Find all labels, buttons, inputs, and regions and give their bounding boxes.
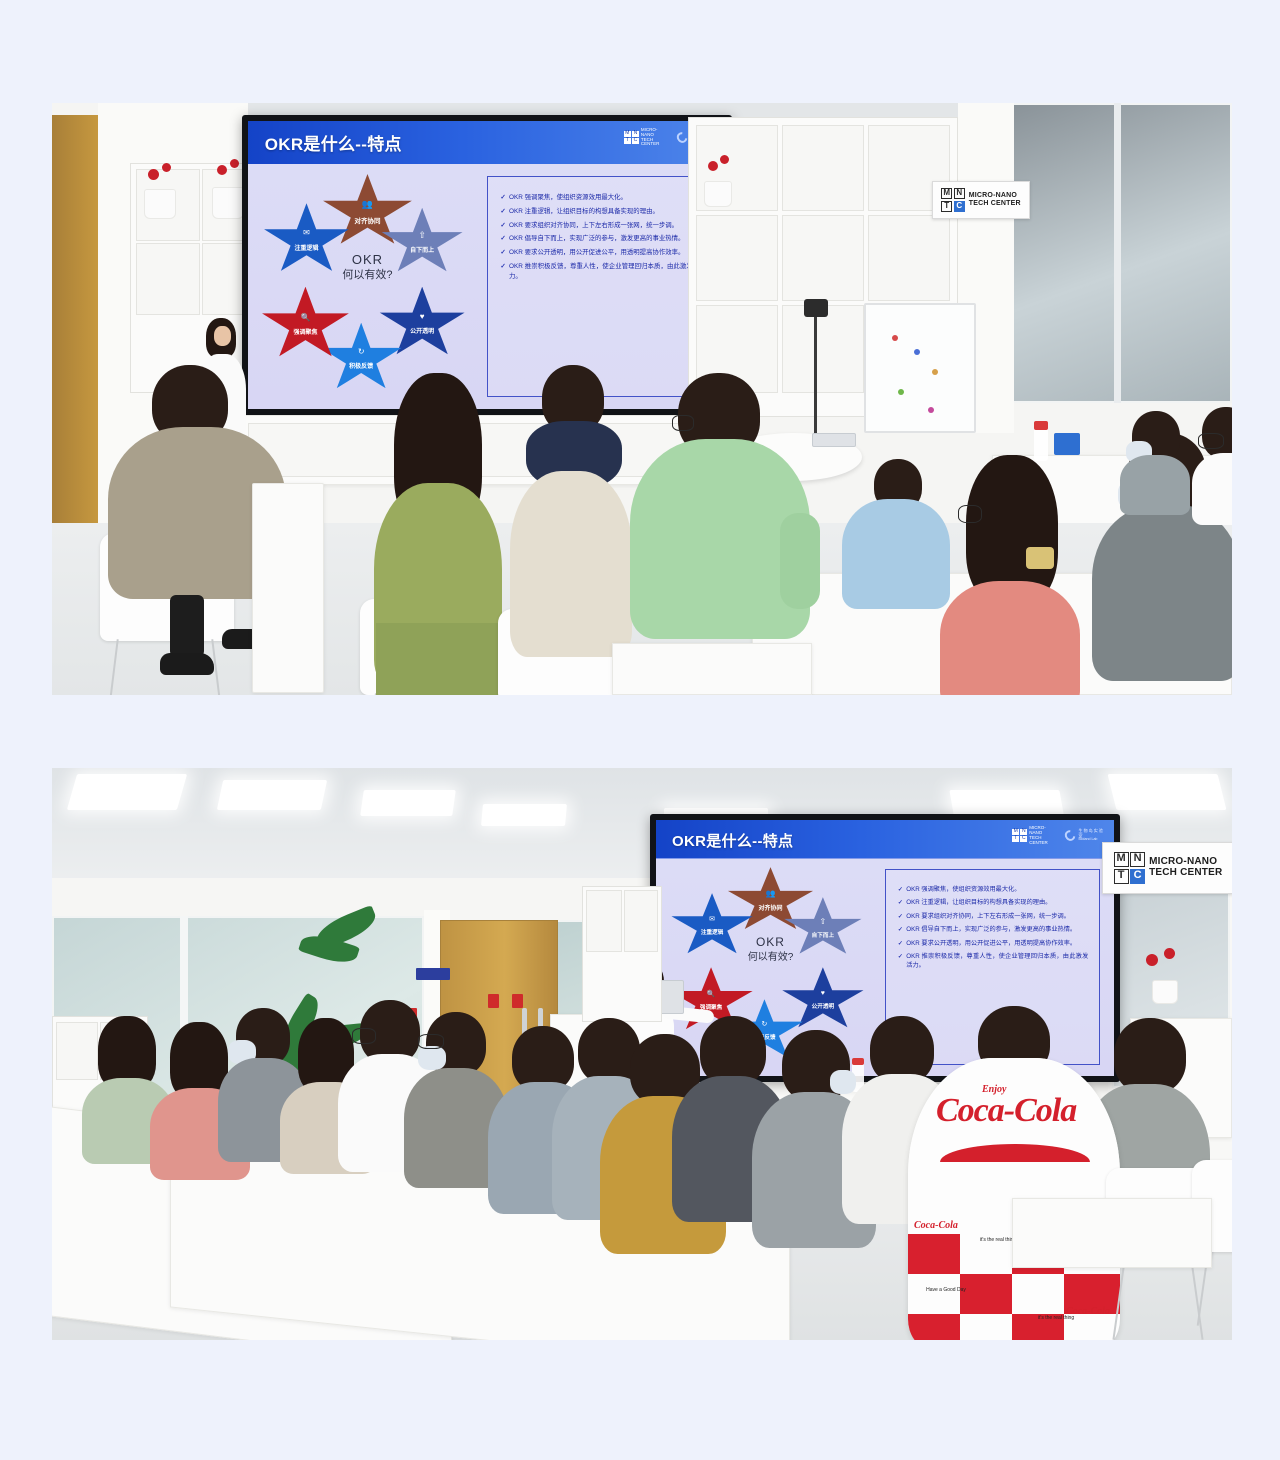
glasses [418,1034,444,1049]
shelf-cell [782,215,864,301]
audience-member [370,373,505,695]
magnet-dot [932,369,938,375]
mntc-letter-t: T [624,138,631,144]
bench-right [1012,1198,1212,1268]
center-line-1: OKR [317,251,418,268]
wall-sign-letter-t: T [1114,869,1129,884]
presentation-screen: OKR是什么--特点 M N T C MICRO-NANO TECH [242,115,732,415]
audience-member [940,455,1080,695]
red-flower [720,155,729,164]
mntc-logo: M N T C MICRO-NANO TECH CENTER [1012,826,1057,845]
bullet-item: OKR 推崇积极反馈，尊重人性，使企业管理回归本质，由此激发活力。 [500,262,699,281]
swirl-icon [1063,828,1078,843]
tripod-head [804,299,828,317]
jacket-check-square [908,1234,960,1274]
ceiling-light [481,804,567,826]
wall-sign-letter-m: M [1114,852,1129,867]
shelf-cell [624,890,658,952]
heart-icon: ♥ [420,313,425,321]
audience-member-cocacola: Enjoy Coca-Cola Coca-Cola Coca-Cola it's… [904,1006,1124,1340]
blue-cup [1054,433,1080,455]
red-flower [148,169,159,180]
mntc-logo-line2: TECH CENTER [1029,836,1057,845]
people-icon: 👥 [766,890,776,898]
red-flower [708,161,718,171]
plant-pot [1152,980,1178,1004]
photo-seminar-close-view: OKR是什么--特点 M N T C MICRO-NANO TECH [52,103,1232,695]
scene-wide-view: OKR是什么--特点 M N T C MICRO-NANO TECH [52,768,1232,1340]
torso [842,499,950,609]
mntc-logo-letters: M N T C [1012,829,1027,842]
audience-member [842,459,950,609]
mntc-logo-text: MICRO-NANO TECH CENTER [1029,826,1057,845]
glasses [958,505,982,523]
bullet-item: OKR 要求公开透明，用公开促进公平，用透明提高协作效率。 [898,939,1088,948]
fire-alarm-box [512,994,523,1008]
shelf-cell [782,125,864,211]
bullet-item: OKR 倡导自下而上，实现广泛的参与，激发更高的事业热情。 [500,234,699,244]
red-flower [1146,954,1158,966]
up-arrow-icon: ⇧ [418,231,426,240]
torso [510,471,632,657]
wall-sign-mntc: M N T C MICRO-NANO TECH CENTER [1102,842,1232,894]
red-flower [230,159,239,168]
slide-title: OKR是什么--特点 [265,130,402,155]
window-mullion [1114,103,1121,403]
bullet-item: OKR 要求公开透明，用公开促进公平，用透明提高协作效率。 [500,248,699,258]
wall-sign-letter-m: M [941,188,952,199]
wall-sign-letter-t: T [941,201,952,212]
bullet-item: OKR 强调聚焦，使组织资源效用最大化。 [898,885,1088,894]
jacket-tagline: Have a Good Day [920,1288,972,1293]
wall-sign-mntc: M N T C MICRO-NANO TECH CENTER [932,181,1030,219]
bullet-item: OKR 倡导自下而上，实现广泛的参与，激发更高的事业热情。 [898,925,1088,934]
up-arrow-icon: ⇧ [820,918,827,926]
table-front-center [612,643,812,695]
magnet-dot [914,349,920,355]
slide-logo-group: M N T C MICRO-NANO TECH CENTER [1012,826,1105,845]
red-flower [217,165,227,175]
coca-cola-small-wordmark: Coca-Cola [914,1220,958,1231]
fire-alarm-box [488,994,499,1008]
jacket-upper-panel [908,1058,1120,1218]
star-label: 注重逻辑 [294,243,318,252]
jacket-check-square [960,1274,1012,1314]
leg [170,595,204,657]
star-label: 积极反馈 [349,361,373,370]
wall-sign-letters: M N T C [941,188,965,212]
mntc-letter-c: C [1020,836,1027,842]
audience-member [504,365,634,685]
shelf-cell [136,243,200,315]
star-label: 强调聚焦 [293,327,317,336]
mntc-letter-t: T [1012,836,1019,842]
photo-seminar-wide-view: OKR是什么--特点 M N T C MICRO-NANO TECH [52,768,1232,1340]
window-right [1012,103,1232,403]
star-label: 对齐协同 [758,903,782,912]
plant-pot [212,187,244,219]
magnet-dot [928,407,934,413]
partner-logo-text: 生 物 岛 实 验 室 Bioland Lab [1078,829,1104,842]
magnet-dot [892,335,898,341]
bullet-item: OKR 要求组织对齐协同，上下左右形成一张网，统一步调。 [898,912,1088,921]
mntc-logo-letters: M N T C [624,131,639,144]
plant-pot [144,189,176,219]
red-flower [162,163,171,172]
wall-sign-letter-n: N [954,188,965,199]
coca-cola-wordmark: Coca-Cola [936,1092,1076,1130]
hair-clip [1026,547,1054,569]
tripod-stand [814,313,817,443]
ceiling-light [217,780,327,810]
people-icon: 👥 [362,200,373,209]
mail-icon: ✉ [303,229,310,237]
wall-sign-line2: TECH CENTER [1149,868,1222,879]
bullet-item: OKR 注重逻辑，让组织目标的构想具备实现的理由。 [898,898,1088,907]
wall-sign-line1: MICRO-NANO [969,192,1021,200]
ceiling-light [360,790,456,816]
search-icon: 🔍 [707,991,716,998]
face-mask [418,1046,446,1070]
glasses [352,1028,376,1044]
wall-sign-letters: M N T C [1114,852,1146,884]
partner-logo: 生 物 岛 实 验 室 Bioland Lab [1065,829,1105,842]
star-center-text: OKR 何以有效? [317,251,418,283]
star-center-text: OKR 何以有效? [722,935,819,964]
ceiling-light [1108,774,1227,810]
whiteboard [864,303,976,433]
mntc-logo-text: MICRO-NANO TECH CENTER [641,128,669,147]
star-label: 公开透明 [812,1002,834,1010]
wall-sign-letter-c: C [954,201,965,212]
torso [1120,455,1190,515]
bullet-item: OKR 强调聚焦，使组织资源效用最大化。 [500,193,699,203]
glasses [672,415,694,431]
bullet-item: OKR 推崇积极反馈，尊重人性，使企业管理回归本质，由此激发活力。 [898,952,1088,971]
mntc-logo: M N T C MICRO-NANO TECH CENTER [624,128,669,147]
center-line-1: OKR [722,935,819,951]
wall-sign-text: MICRO-NANO TECH CENTER [969,192,1021,207]
torso [1092,505,1232,681]
torso [940,581,1080,695]
chair-leg [1112,1260,1125,1339]
center-line-2: 何以有效? [317,268,418,283]
mntc-logo-line2: TECH CENTER [641,138,669,147]
shelf-cell [868,215,950,301]
bullet-item: OKR 注重逻辑，让组织目标的构想具备实现的理由。 [500,207,699,217]
star-label: 对齐协同 [354,215,380,225]
wall-sign-letter-c: C [1130,869,1145,884]
screen-surface: OKR是什么--特点 M N T C MICRO-NANO TECH [248,121,726,409]
shelf-cell [696,215,778,301]
ceiling-light [67,774,187,810]
bottle-cap [1034,421,1048,430]
okr-slide: OKR是什么--特点 M N T C MICRO-NANO TECH [248,121,726,409]
partner-logo-line2: Bioland Lab [1078,838,1104,842]
jacket-check-square [908,1314,960,1340]
magnet-dot [898,389,904,395]
slide-title: OKR是什么--特点 [672,830,793,851]
wall-sign-line2: TECH CENTER [969,200,1021,208]
mail-icon: ✉ [709,916,715,923]
white-partition-panel [252,483,324,693]
torso [1192,453,1232,525]
audience-member [1120,411,1190,507]
glasses [1198,433,1224,449]
refresh-icon: ↻ [358,348,365,356]
head [1114,1018,1186,1094]
heart-icon: ♥ [821,990,825,997]
laptop [812,433,856,447]
audience-member [1192,407,1232,517]
plant-pot [704,181,732,207]
wall-sign-text: MICRO-NANO TECH CENTER [1149,857,1222,879]
scene-close-view: OKR是什么--特点 M N T C MICRO-NANO TECH [52,103,1232,695]
center-line-2: 何以有效? [722,951,819,964]
jacket-tagline: it's the real thing [1030,1316,1082,1321]
star-diagram: 👥 对齐协同 ⇧ 自下而上 ♥ 公开透明 [262,174,472,399]
red-flower [1164,948,1175,959]
shoe [160,653,214,675]
arm [780,513,820,609]
star-label: 公开透明 [410,326,434,335]
wall-sign-letter-n: N [1130,852,1145,867]
door-sign [416,968,450,980]
star-label: 注重逻辑 [701,928,723,936]
mntc-letter-c: C [632,138,639,144]
bullet-item: OKR 要求组织对齐协同，上下左右形成一张网，统一步调。 [500,221,699,231]
slide-bullet-box: OKR 强调聚焦，使组织资源效用最大化。 OKR 注重逻辑，让组织目标的构想具备… [487,176,712,396]
search-icon: 🔍 [300,314,310,322]
presenter-face [214,326,231,346]
shelf-cell [586,890,622,952]
